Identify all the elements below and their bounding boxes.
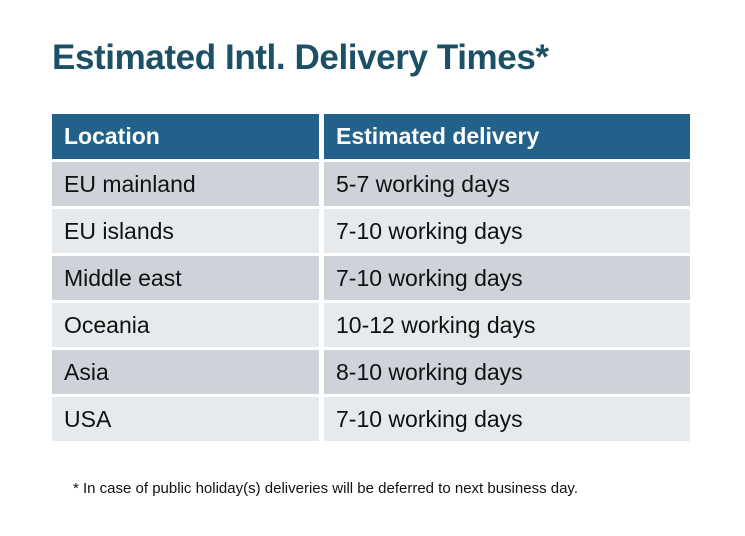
footnote: * In case of public holiday(s) deliverie… (73, 479, 578, 499)
cell-location: EU mainland (52, 162, 319, 206)
column-header-estimated-delivery: Estimated delivery (324, 114, 690, 159)
table-row: EU islands 7-10 working days (52, 209, 690, 253)
table-row: USA 7-10 working days (52, 397, 690, 441)
cell-delivery: 7-10 working days (324, 397, 690, 441)
cell-delivery: 5-7 working days (324, 162, 690, 206)
table-header-row: Location Estimated delivery (52, 114, 690, 159)
delivery-times-page: Estimated Intl. Delivery Times* Location… (0, 0, 745, 536)
cell-delivery: 7-10 working days (324, 209, 690, 253)
cell-location: Oceania (52, 303, 319, 347)
table-row: Oceania 10-12 working days (52, 303, 690, 347)
table-row: Middle east 7-10 working days (52, 256, 690, 300)
cell-delivery: 8-10 working days (324, 350, 690, 394)
cell-delivery: 7-10 working days (324, 256, 690, 300)
cell-location: Middle east (52, 256, 319, 300)
delivery-times-table: Location Estimated delivery EU mainland … (52, 114, 690, 441)
table-row: EU mainland 5-7 working days (52, 162, 690, 206)
cell-delivery: 10-12 working days (324, 303, 690, 347)
table-row: Asia 8-10 working days (52, 350, 690, 394)
cell-location: EU islands (52, 209, 319, 253)
cell-location: USA (52, 397, 319, 441)
page-title: Estimated Intl. Delivery Times* (52, 36, 549, 80)
cell-location: Asia (52, 350, 319, 394)
column-header-location: Location (52, 114, 319, 159)
